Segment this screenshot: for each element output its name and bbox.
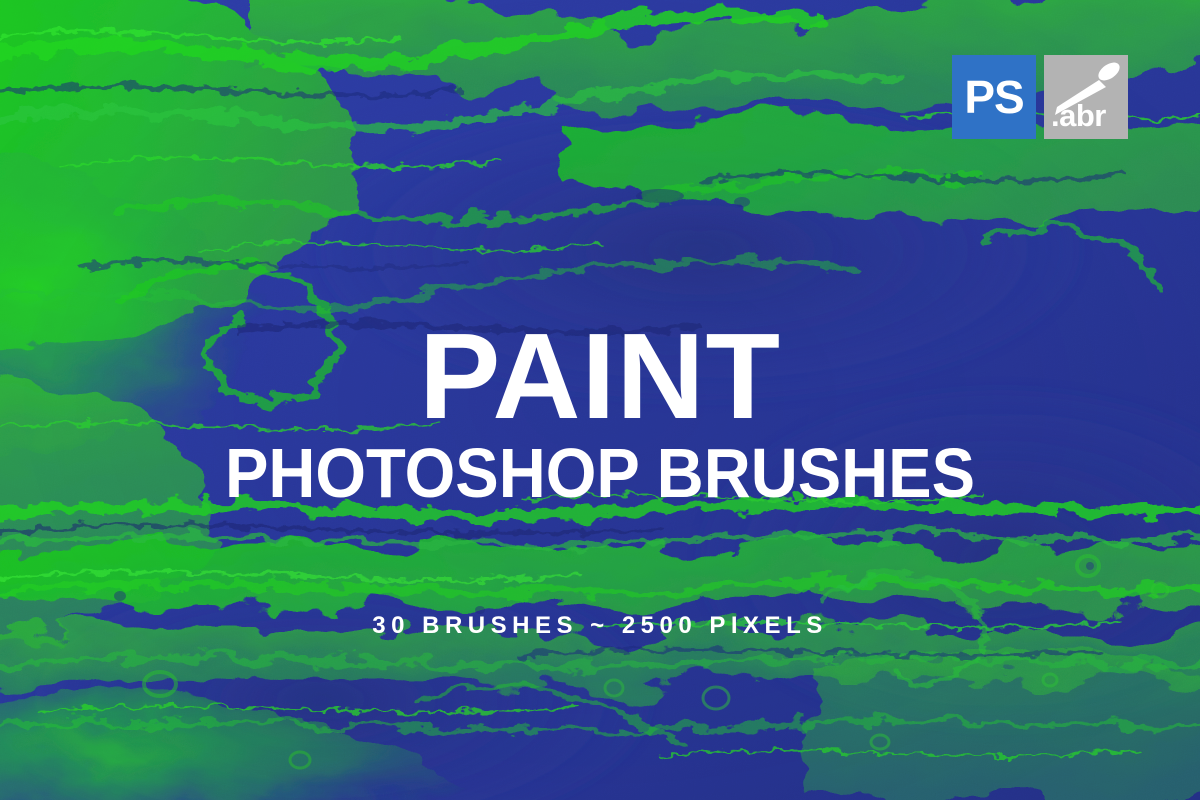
photoshop-badge-icon[interactable]: PS xyxy=(952,55,1036,139)
page-title: PAINT xyxy=(0,320,1200,432)
poster-canvas: PS .abr PAINT PHOTOSHOP BRUSHES 30 BRUSH… xyxy=(0,0,1200,800)
headline-block: PAINT PHOTOSHOP BRUSHES xyxy=(0,320,1200,508)
abr-badge-label: .abr xyxy=(1051,100,1106,131)
file-format-badges: PS .abr xyxy=(952,55,1128,139)
abr-badge[interactable]: .abr xyxy=(1044,55,1128,139)
product-meta-text: 30 BRUSHES ~ 2500 PIXELS xyxy=(0,612,1200,640)
page-subtitle: PHOTOSHOP BRUSHES xyxy=(42,438,1158,508)
ps-badge-label: PS xyxy=(964,74,1023,120)
